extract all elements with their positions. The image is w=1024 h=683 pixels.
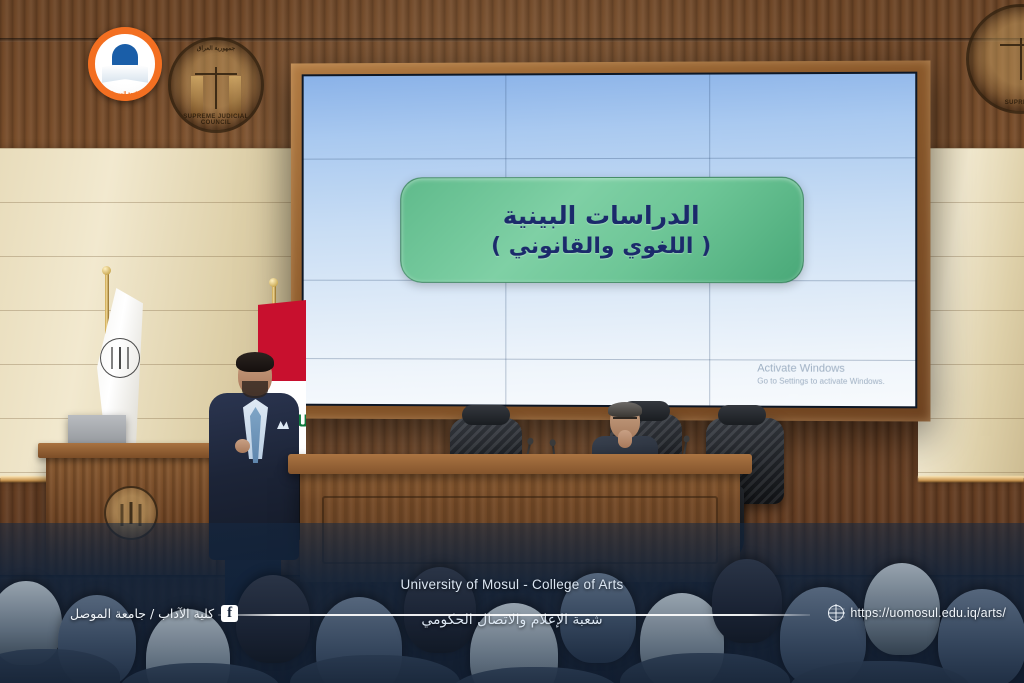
cream-wall-panel-right [918, 148, 1024, 478]
flagpole-finial [102, 266, 111, 275]
panel-table-top [288, 454, 752, 474]
banner-divider-rule [218, 614, 810, 616]
facebook-handle-group[interactable]: كلية الآداب / جامعة الموصل [70, 605, 238, 622]
website-url-group[interactable]: https://uomosul.edu.iq/arts/ [828, 605, 1006, 621]
speaker-hand [235, 439, 250, 453]
university-of-mosul-logo-icon: جامعة الموصل [88, 27, 162, 101]
pillar-icon [191, 76, 203, 116]
flagpole-finial [269, 278, 278, 287]
scales-of-justice-icon [1020, 38, 1022, 80]
banner-title-en: University of Mosul - College of Arts [0, 577, 1024, 592]
open-book-icon [102, 63, 148, 83]
watermark-subtitle: Go to Settings to activate Windows. [757, 377, 885, 388]
bottom-banner-overlay: University of Mosul - College of Arts شع… [0, 563, 1024, 683]
video-wall-screen: الدراسات البينية ( اللغوي والقانوني ) Ac… [291, 60, 931, 421]
slide-title-line-2: ( اللغوي والقانوني ) [491, 234, 711, 259]
windows-activation-watermark: Activate Windows Go to Settings to activ… [757, 362, 885, 388]
speaker-hair [236, 352, 274, 372]
screen-display-area: الدراسات البينية ( اللغوي والقانوني ) Ac… [302, 72, 918, 409]
emblem-bottom-text: SUPREME [969, 100, 1024, 106]
speaker-beard [242, 381, 268, 398]
pillar-icon [229, 76, 241, 116]
globe-icon[interactable] [828, 605, 844, 621]
podium-top-surface [38, 443, 224, 458]
scales-of-justice-icon [215, 67, 217, 109]
panel-seam-horizontal [304, 157, 916, 160]
wall-glow-strip-right [918, 476, 1024, 483]
university-logo-ribbon-text: جامعة الموصل [88, 91, 162, 97]
emblem-bottom-text: SUPREME JUDICIAL COUNCIL [171, 114, 261, 126]
flag-emblem-icon [100, 338, 140, 378]
screenshot-root: جامعة الموصل جمهورية العراق SUPREME JUDI… [0, 0, 1024, 683]
facebook-icon[interactable] [221, 605, 238, 622]
panelist-hair [608, 402, 642, 417]
watermark-title: Activate Windows [757, 362, 885, 377]
facebook-handle-text: كلية الآداب / جامعة الموصل [70, 606, 214, 621]
emblem-top-text: جمهورية العراق [171, 45, 261, 52]
eyeglasses-icon [613, 417, 637, 423]
slide-title-box: الدراسات البينية ( اللغوي والقانوني ) [400, 177, 803, 283]
judicial-council-emblem-left: جمهورية العراق SUPREME JUDICIAL COUNCIL [168, 37, 264, 133]
website-url-text[interactable]: https://uomosul.edu.iq/arts/ [850, 606, 1006, 620]
slide-title-line-1: الدراسات البينية [503, 201, 700, 230]
panelist-hand [618, 430, 632, 448]
panel-seam-horizontal [304, 358, 916, 361]
